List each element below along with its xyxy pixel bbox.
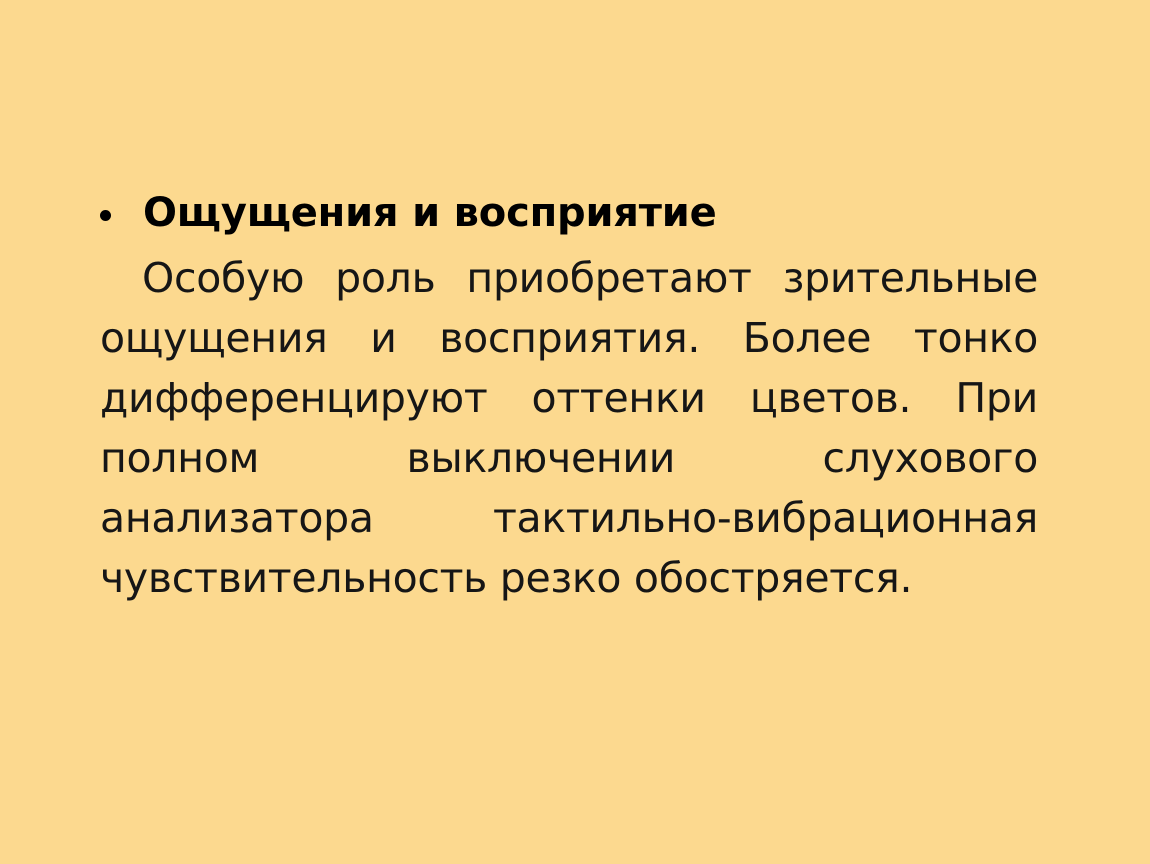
paragraph-line-2: ощущения и восприятия. Более тонко [100,308,1038,368]
paragraph-line-1: Особую роль приобретают зрительные [100,248,1038,308]
slide-canvas: Ощущения и восприятие Особую роль приобр… [0,0,1150,864]
slide-body-paragraph: Особую роль приобретают зрительные ощуще… [100,248,1038,608]
bullet-heading-row: Ощущения и восприятие [100,190,1040,236]
bullet-point-icon [100,210,111,221]
paragraph-line-3: дифференцируют оттенки цветов. При [100,368,1038,428]
slide-heading: Ощущения и восприятие [143,190,1040,236]
paragraph-line-4: полном выключении слухового [100,428,1038,488]
slide-content-block: Ощущения и восприятие Особую роль приобр… [100,190,1040,608]
paragraph-line-5: анализатора тактильно-вибрационная [100,488,1038,548]
paragraph-line-6: чувствительность резко обостряется. [100,548,1038,608]
